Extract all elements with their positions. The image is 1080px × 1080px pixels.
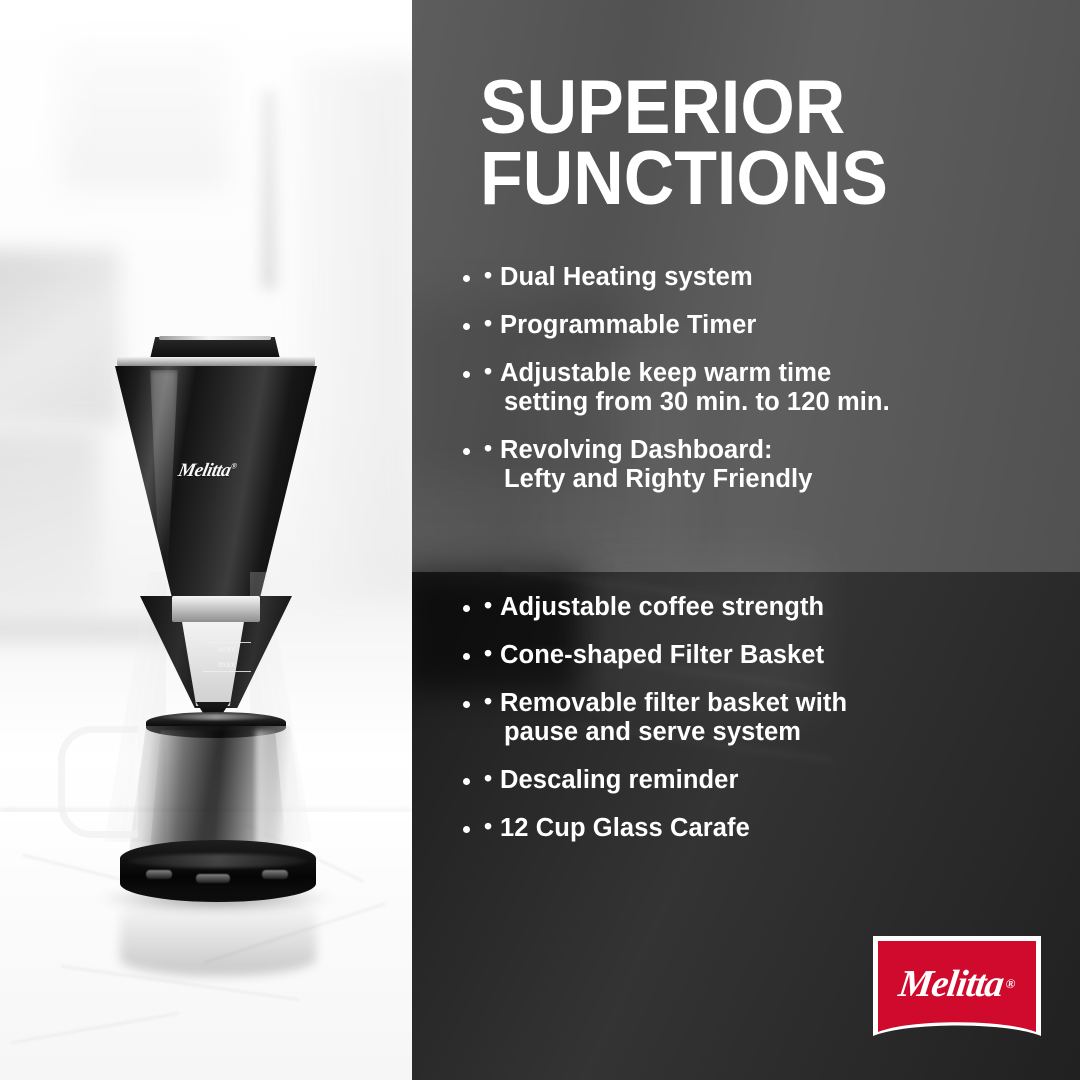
machine-base-ring xyxy=(128,854,308,868)
carafe-lid-highlight xyxy=(160,714,272,720)
feature-line: Programmable Timer xyxy=(500,311,1064,340)
feature-line: Dual Heating system xyxy=(500,263,1064,292)
machine-brand-mark: Melitta® xyxy=(175,460,267,486)
feature-item: Cone-shaped Filter Basket xyxy=(484,641,1064,670)
feature-item: Removable filter basket withpause and se… xyxy=(484,689,1064,747)
logo-wordmark: Melitta® xyxy=(872,941,1043,1032)
base-control-right xyxy=(262,870,288,879)
melitta-logo: Melitta® xyxy=(873,936,1041,1036)
logo-registered-mark: ® xyxy=(1005,976,1017,992)
coffee-maker: Melitta® max max xyxy=(0,0,412,1080)
feature-item: Adjustable coffee strength xyxy=(484,593,1064,622)
chrome-band xyxy=(172,596,260,622)
base-control-left xyxy=(146,870,172,879)
feature-line: 12 Cup Glass Carafe xyxy=(500,814,1064,843)
machine-reflection xyxy=(120,898,316,976)
machine-lid xyxy=(150,337,280,359)
machine-top-rim xyxy=(117,357,315,366)
feature-item: Revolving Dashboard:Lefty and Righty Fri… xyxy=(484,436,1064,494)
feature-line: pause and serve system xyxy=(504,718,1064,747)
feature-list-primary: Dual Heating systemProgrammable TimerAdj… xyxy=(484,263,1064,513)
machine-brand-registered: ® xyxy=(230,462,237,471)
product-feature-poster: Melitta® max max xyxy=(0,0,1080,1080)
product-photo: Melitta® max max xyxy=(0,0,412,1080)
feature-item: Adjustable keep warm timesetting from 30… xyxy=(484,359,1064,417)
feature-line: setting from 30 min. to 120 min. xyxy=(504,388,1064,417)
feature-item: 12 Cup Glass Carafe xyxy=(484,814,1064,843)
feature-panel: SUPERIOR FUNCTIONS Dual Heating systemPr… xyxy=(412,0,1080,1080)
feature-line: Adjustable keep warm time xyxy=(500,359,1064,388)
feature-line: Cone-shaped Filter Basket xyxy=(500,641,1064,670)
page-title: SUPERIOR FUNCTIONS xyxy=(480,72,995,215)
feature-item: Descaling reminder xyxy=(484,766,1064,795)
feature-list-secondary: Adjustable coffee strengthCone-shaped Fi… xyxy=(484,593,1064,862)
feature-line: Revolving Dashboard: xyxy=(500,436,1064,465)
feature-line: Lefty and Righty Friendly xyxy=(504,465,1064,494)
carafe-handle xyxy=(58,726,138,838)
feature-line: Removable filter basket with xyxy=(500,689,1064,718)
carafe-max-label-reflected: max xyxy=(200,645,254,654)
feature-item: Dual Heating system xyxy=(484,263,1064,292)
carafe-max-label: max xyxy=(200,660,254,669)
machine-lid-chrome-strip xyxy=(159,336,271,340)
carafe-highlight xyxy=(256,730,278,848)
feature-line: Adjustable coffee strength xyxy=(500,593,1064,622)
logo-brand-text: Melitta xyxy=(896,962,1006,1006)
title-line-2: FUNCTIONS xyxy=(480,143,995,214)
feature-line: Descaling reminder xyxy=(500,766,1064,795)
feature-item: Programmable Timer xyxy=(484,311,1064,340)
base-control-center xyxy=(196,874,230,883)
machine-brand-text: Melitta xyxy=(176,460,232,481)
